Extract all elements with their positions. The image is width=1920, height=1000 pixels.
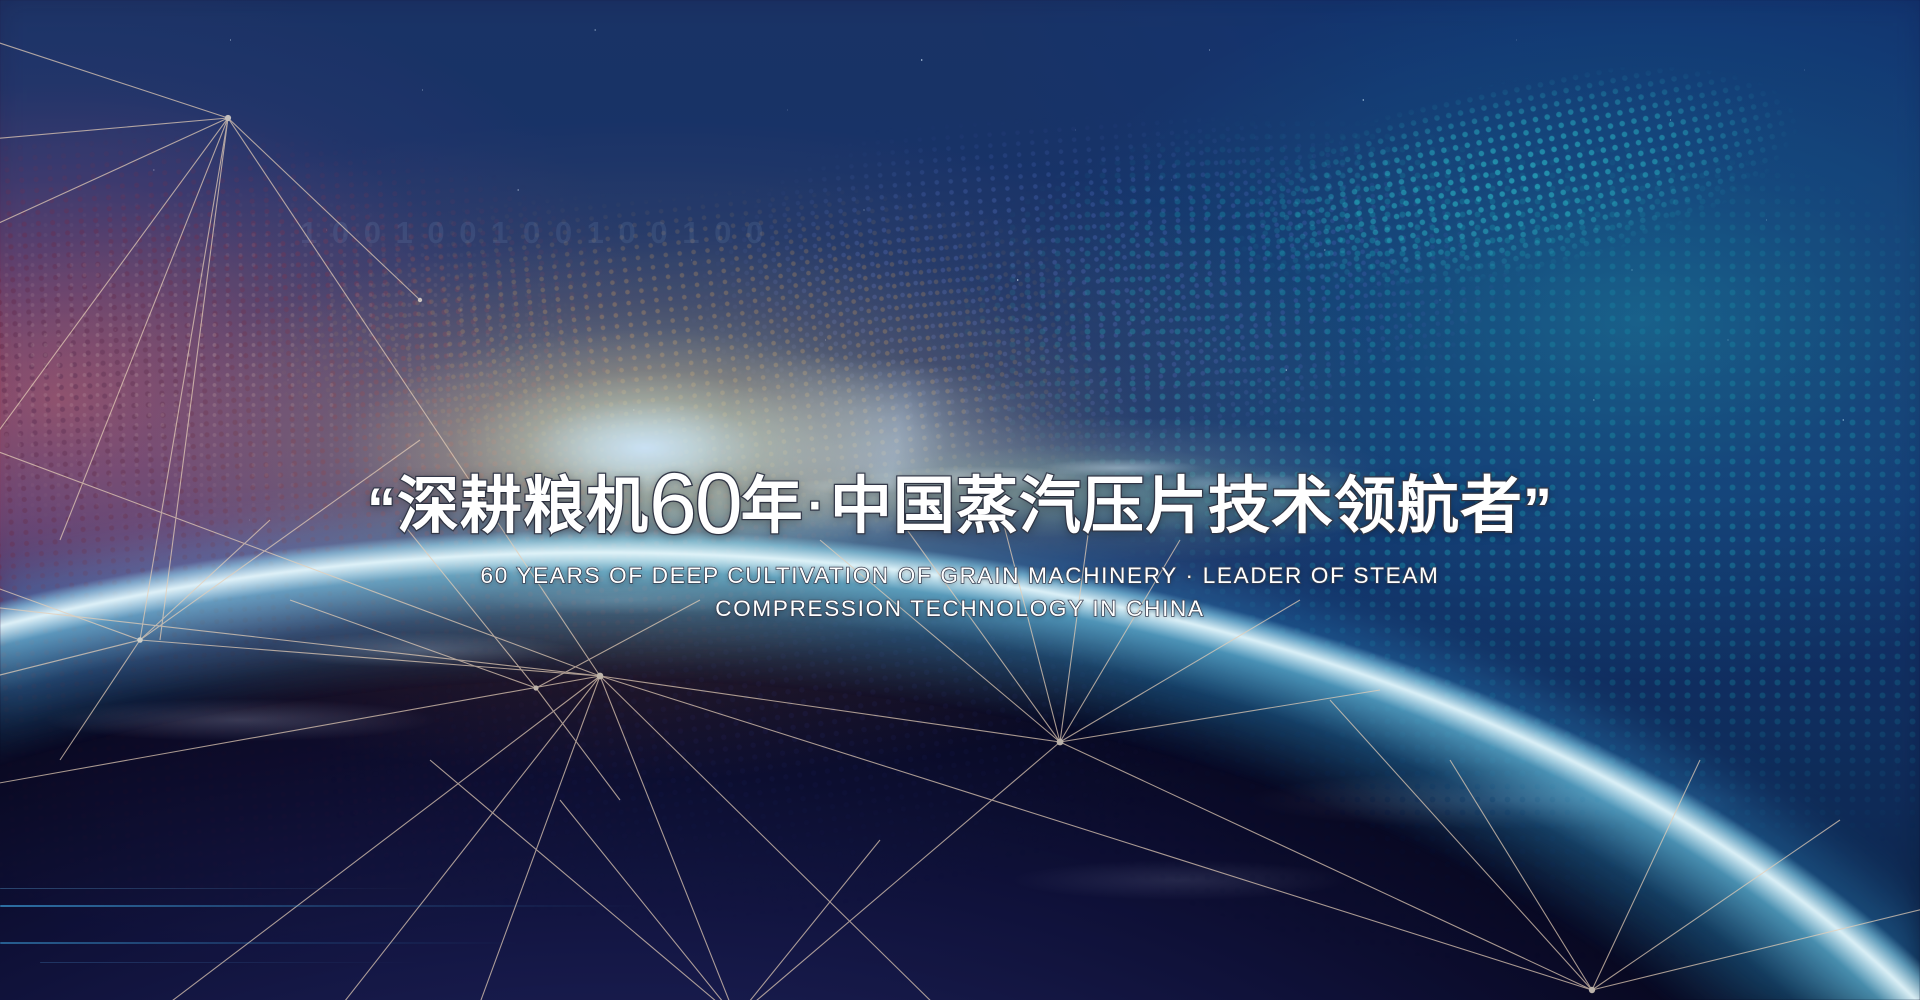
subtitle-line-1: 60 YEARS OF DEEP CULTIVATION OF GRAIN MA… (0, 559, 1920, 592)
light-streak (40, 962, 420, 963)
title-separator-dot: · (804, 480, 830, 532)
light-streak (0, 942, 520, 944)
title-close-quote: ” (1523, 481, 1553, 539)
binary-code-band: 1 0 0 1 0 0 1 0 0 1 0 0 1 0 0 (300, 212, 1400, 254)
title-open-quote: “ (367, 481, 397, 539)
banner-text-block: “ 深耕粮机 60 年 · 中国蒸汽压片技术领航者 ” 60 YEARS OF … (0, 455, 1920, 625)
light-streak (0, 888, 420, 889)
hero-banner: 1 0 0 1 0 0 1 0 0 1 0 0 1 0 0 (0, 0, 1920, 1000)
light-streak (0, 905, 640, 907)
title-segment-two: 年 (741, 476, 804, 538)
subtitle-line-2: COMPRESSION TECHNOLOGY IN CHINA (0, 592, 1920, 625)
title-number-60: 60 (649, 461, 741, 547)
title-segment-three: 中国蒸汽压片技术领航者 (830, 476, 1523, 538)
page-title: “ 深耕粮机 60 年 · 中国蒸汽压片技术领航者 ” (0, 455, 1920, 541)
title-segment-one: 深耕粮机 (397, 476, 649, 538)
page-subtitle: 60 YEARS OF DEEP CULTIVATION OF GRAIN MA… (0, 559, 1920, 625)
